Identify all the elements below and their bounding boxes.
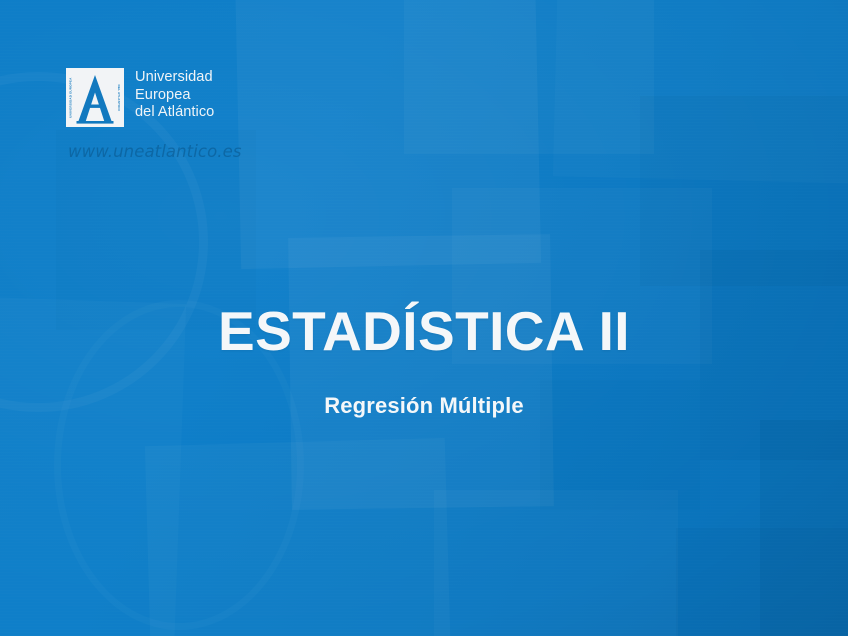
shield-microtext-right-label: DEL ATLANTICO bbox=[117, 84, 120, 110]
university-name-line-2: Europea bbox=[135, 87, 214, 105]
slide-subtitle: Regresión Múltiple bbox=[0, 392, 848, 420]
title-slide: UNIVERSIDAD EUROPEA DEL ATLANTICO Univer… bbox=[0, 0, 848, 636]
shield-microtext-left: UNIVERSIDAD EUROPEA bbox=[68, 72, 75, 123]
university-name: Universidad Europea del Atlántico bbox=[135, 68, 214, 122]
university-shield-icon: UNIVERSIDAD EUROPEA DEL ATLANTICO bbox=[66, 68, 124, 127]
university-website-url: www.uneatlantico.es bbox=[68, 142, 242, 161]
university-name-line-1: Universidad bbox=[135, 69, 214, 87]
university-logo: UNIVERSIDAD EUROPEA DEL ATLANTICO Univer… bbox=[66, 68, 214, 127]
slide-title: ESTADÍSTICA II bbox=[0, 300, 848, 362]
shield-microtext-right: DEL ATLANTICO bbox=[115, 72, 122, 123]
shield-microtext-left-label: UNIVERSIDAD EUROPEA bbox=[70, 77, 73, 117]
university-name-line-3: del Atlántico bbox=[135, 104, 214, 122]
